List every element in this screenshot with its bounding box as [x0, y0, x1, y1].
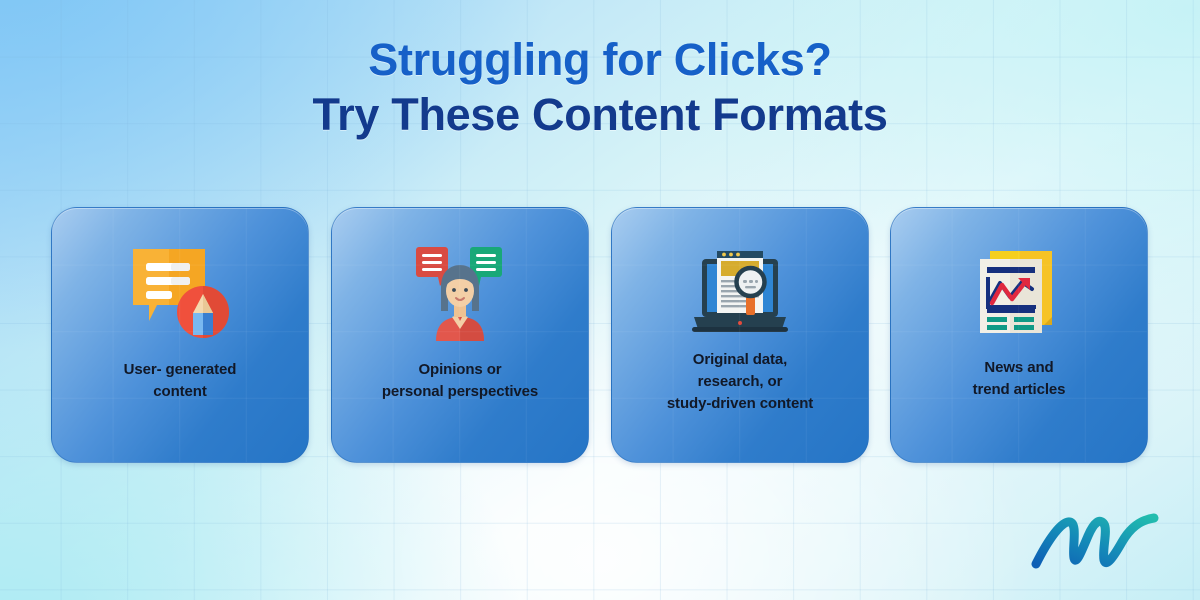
speech-bubble-pencil-icon [52, 238, 308, 348]
card-label-user-generated: User- generated content [52, 359, 308, 403]
newspaper-chart-icon [891, 238, 1147, 348]
mw-brand-logo[interactable] [1028, 506, 1178, 578]
label-line: User- generated [124, 361, 237, 378]
mw-brand-logo-svg [1028, 506, 1178, 578]
person-two-speech-bubbles-icon-svg [414, 245, 506, 341]
card-original-data-research[interactable]: Original data, research, or study-driven… [611, 207, 869, 463]
laptop-document-magnifier-icon-svg [690, 247, 790, 339]
person-two-speech-bubbles-icon [332, 238, 588, 348]
title-line-2: Try These Content Formats [0, 91, 1200, 140]
label-line: personal perspectives [382, 383, 538, 400]
infographic-canvas: Struggling for Clicks? Try These Content… [0, 0, 1200, 600]
newspaper-chart-icon-svg [976, 249, 1062, 337]
label-line: content [153, 383, 206, 400]
speech-bubble-pencil-icon-svg [127, 243, 233, 343]
laptop-document-magnifier-icon [612, 238, 868, 348]
card-label-news-trend: News and trend articles [891, 357, 1147, 401]
label-line: Original data, [693, 351, 787, 368]
page-title: Struggling for Clicks? Try These Content… [0, 36, 1200, 139]
title-line-1: Struggling for Clicks? [0, 36, 1200, 85]
card-label-original-data: Original data, research, or study-driven… [612, 349, 868, 414]
card-news-trend-articles[interactable]: News and trend articles [890, 207, 1148, 463]
card-opinions-personal-perspectives[interactable]: Opinions or personal perspectives [331, 207, 589, 463]
label-line: trend articles [973, 381, 1066, 398]
label-line: Opinions or [418, 361, 501, 378]
card-label-opinions: Opinions or personal perspectives [332, 359, 588, 403]
card-user-generated-content[interactable]: User- generated content [51, 207, 309, 463]
label-line: News and [984, 359, 1053, 376]
label-line: study-driven content [667, 395, 813, 412]
label-line: research, or [698, 373, 783, 390]
